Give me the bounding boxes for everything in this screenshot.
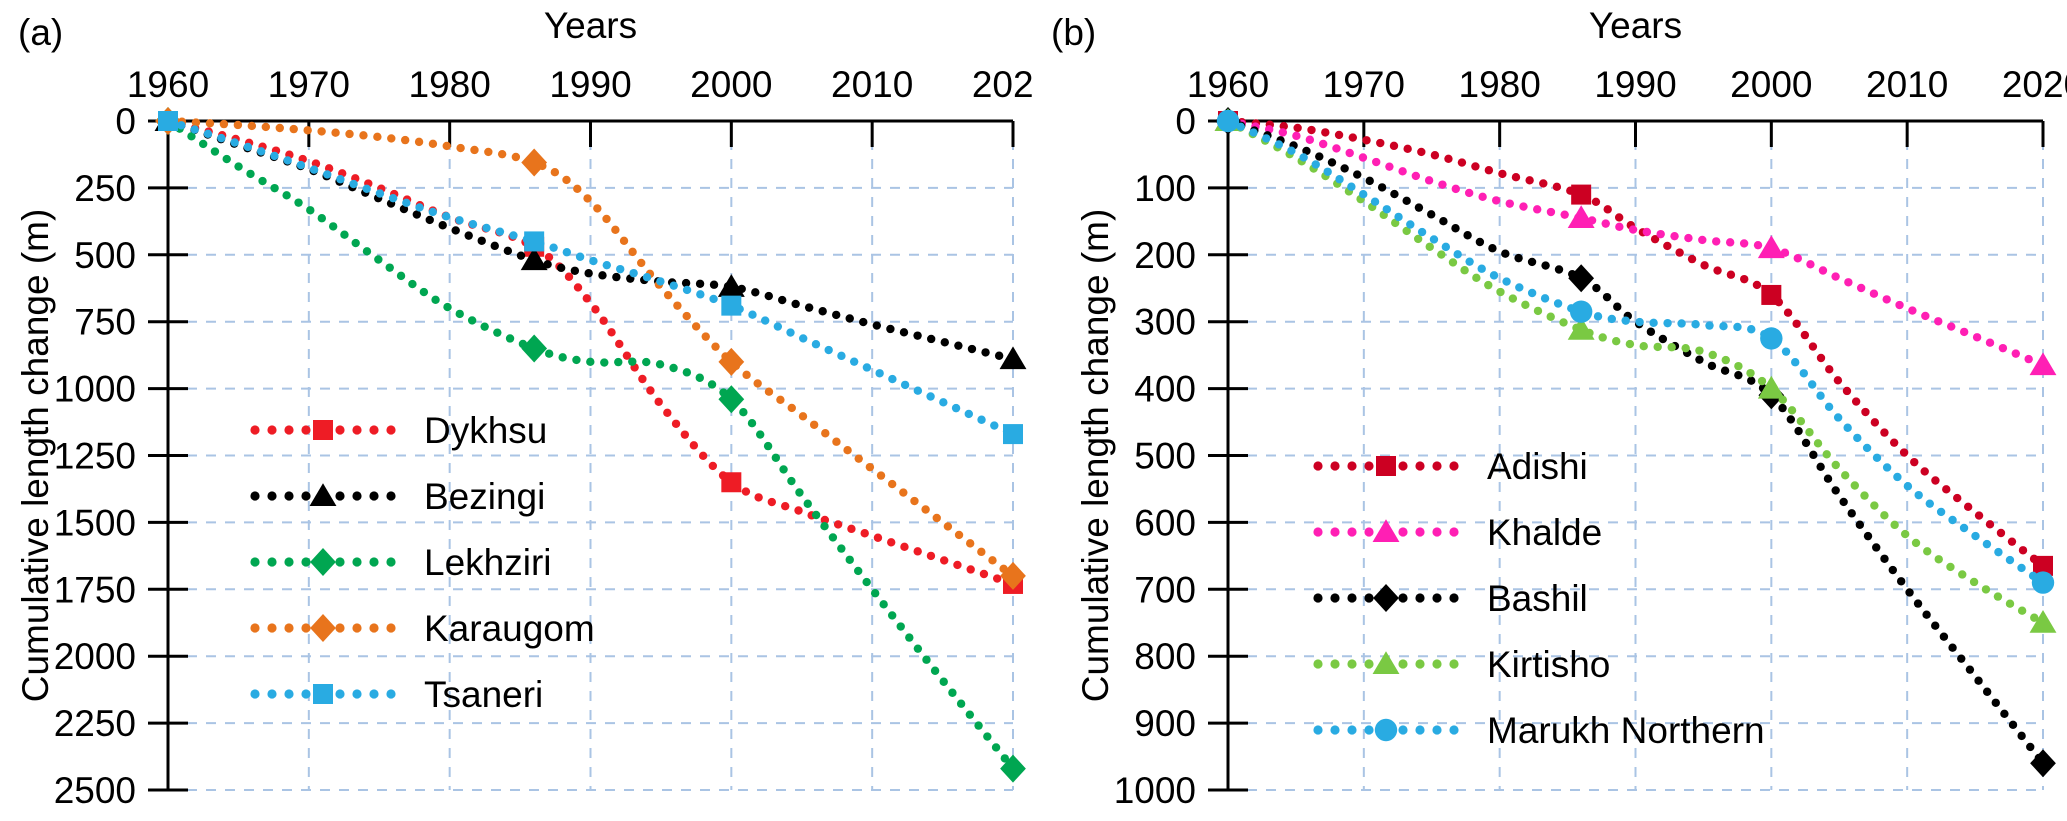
x-tick-label: 1980 xyxy=(1459,64,1541,105)
y-tick-label: 1000 xyxy=(1114,770,1196,811)
y-tick-label: 200 xyxy=(1134,235,1196,276)
y-tick-label: 0 xyxy=(1175,101,1196,142)
y-tick-label: 0 xyxy=(115,101,136,142)
legend-label: Kirtisho xyxy=(1487,644,1610,685)
x-axis-title: Years xyxy=(544,5,637,46)
panel-b-plot: 1960197019801990200020102020010020030040… xyxy=(1033,0,2067,821)
y-tick-label: 1000 xyxy=(54,369,136,410)
y-tick-label: 400 xyxy=(1134,369,1196,410)
y-tick-label: 2250 xyxy=(54,703,136,744)
x-tick-label: 1990 xyxy=(1594,64,1676,105)
legend-item-kirtisho[interactable]: Kirtisho xyxy=(1313,644,1610,685)
y-tick-label: 1750 xyxy=(54,569,136,610)
y-tick-label: 100 xyxy=(1134,168,1196,209)
y-tick-label: 2000 xyxy=(54,636,136,677)
y-tick-label: 500 xyxy=(1134,436,1196,477)
y-tick-label: 700 xyxy=(1134,569,1196,610)
y-tick-label: 900 xyxy=(1134,703,1196,744)
x-axis-title: Years xyxy=(1589,5,1682,46)
legend-label: Bashil xyxy=(1487,578,1588,619)
legend-label: Marukh Northern xyxy=(1487,710,1765,751)
y-tick-label: 750 xyxy=(74,302,136,343)
y-tick-label: 1500 xyxy=(54,502,136,543)
y-tick-label: 600 xyxy=(1134,502,1196,543)
x-tick-label: 2010 xyxy=(1866,64,1948,105)
legend-item-tsaneri[interactable]: Tsaneri xyxy=(250,674,543,715)
panel-b: (b) 196019701980199020002010202001002003… xyxy=(1033,0,2067,821)
legend-label: Dykhsu xyxy=(424,410,547,451)
legend-label: Karaugom xyxy=(424,608,595,649)
panel-a: (a) 196019701980199020002010202002505007… xyxy=(0,0,1033,821)
y-axis-title: Cumulative length change (m) xyxy=(1075,209,1116,703)
panel-a-letter: (a) xyxy=(18,14,63,51)
y-tick-label: 800 xyxy=(1134,636,1196,677)
x-tick-label: 1980 xyxy=(409,64,491,105)
y-tick-label: 2500 xyxy=(54,770,136,811)
x-tick-label: 1970 xyxy=(268,64,350,105)
x-tick-label: 1960 xyxy=(1187,64,1269,105)
x-tick-label: 2020 xyxy=(2002,64,2067,105)
y-axis-title: Cumulative length change (m) xyxy=(15,209,56,703)
legend-label: Adishi xyxy=(1487,446,1588,487)
legend-item-lekhziri[interactable]: Lekhziri xyxy=(250,542,551,583)
legend-item-dykhsu[interactable]: Dykhsu xyxy=(250,410,547,451)
y-tick-label: 300 xyxy=(1134,302,1196,343)
y-tick-label: 250 xyxy=(74,168,136,209)
legend-label: Lekhziri xyxy=(424,542,552,583)
panel-a-plot: 1960197019801990200020102020025050075010… xyxy=(0,0,1033,821)
legend-label: Bezingi xyxy=(424,476,545,517)
x-tick-label: 2010 xyxy=(831,64,913,105)
legend-label: Tsaneri xyxy=(424,674,543,715)
panel-b-letter: (b) xyxy=(1051,14,1096,51)
legend-item-karaugom[interactable]: Karaugom xyxy=(250,608,594,649)
x-tick-label: 1970 xyxy=(1323,64,1405,105)
legend-item-khalde[interactable]: Khalde xyxy=(1313,512,1602,553)
legend-item-marukh-northern[interactable]: Marukh Northern xyxy=(1313,710,1764,751)
x-tick-label: 1990 xyxy=(549,64,631,105)
legend-item-adishi[interactable]: Adishi xyxy=(1313,446,1587,487)
x-tick-label: 2020 xyxy=(972,64,1033,105)
x-tick-label: 2000 xyxy=(690,64,772,105)
x-tick-label: 1960 xyxy=(127,64,209,105)
legend-item-bezingi[interactable]: Bezingi xyxy=(250,476,545,517)
y-tick-label: 1250 xyxy=(54,436,136,477)
x-tick-label: 2000 xyxy=(1730,64,1812,105)
legend-item-bashil[interactable]: Bashil xyxy=(1313,578,1587,619)
legend-label: Khalde xyxy=(1487,512,1602,553)
y-tick-label: 500 xyxy=(74,235,136,276)
figure-root: (a) 196019701980199020002010202002505007… xyxy=(0,0,2067,821)
